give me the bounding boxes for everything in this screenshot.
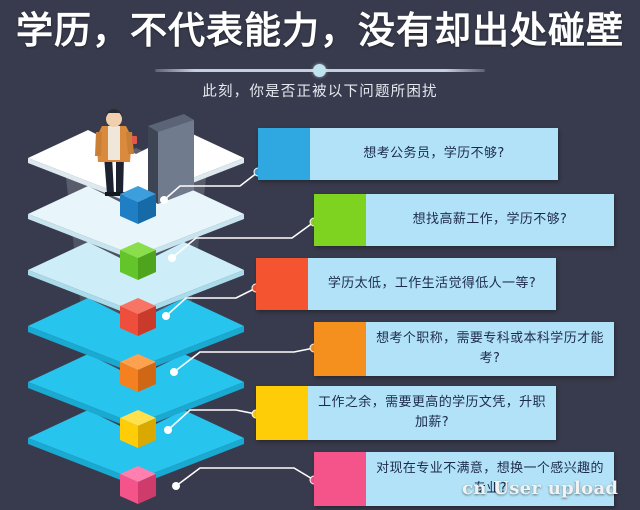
question-card[interactable]: 工作之余，需要更高的学历文凭，升职加薪?: [256, 386, 556, 440]
question-card[interactable]: 想找高薪工作，学历不够?: [314, 194, 614, 246]
card-color-chip: [314, 452, 366, 506]
podium-shape: [148, 114, 194, 204]
question-card[interactable]: 学历太低，工作生活觉得低人一等?: [256, 258, 556, 310]
card-text: 想考公务员，学历不够?: [363, 144, 504, 164]
isometric-layered-platform-illustration: [8, 108, 268, 508]
card-text: 想考个职称，需要专科或本科学历才能考?: [376, 329, 604, 369]
cube-blue: [120, 186, 156, 224]
card-body: 想找高薪工作，学历不够?: [366, 194, 614, 246]
cube-pink: [120, 466, 156, 504]
page-subtitle: 此刻，你是否正被以下问题所困扰: [0, 80, 640, 101]
card-color-chip: [258, 128, 310, 180]
card-color-chip: [256, 386, 308, 440]
question-card[interactable]: 想考个职称，需要专科或本科学历才能考?: [314, 322, 614, 376]
card-text: 想找高薪工作，学历不够?: [413, 210, 568, 230]
card-color-chip: [256, 258, 308, 310]
card-body: 想考公务员，学历不够?: [310, 128, 558, 180]
card-color-chip: [314, 194, 366, 246]
card-body: 工作之余，需要更高的学历文凭，升职加薪?: [308, 386, 556, 440]
page-title: 学历，不代表能力，没有却出处碰壁: [0, 8, 640, 54]
question-card[interactable]: 想考公务员，学历不够?: [258, 128, 558, 180]
card-text: 学历太低，工作生活觉得低人一等?: [328, 274, 536, 294]
cube-green: [120, 242, 156, 280]
cube-red: [120, 298, 156, 336]
header: 学历，不代表能力，没有却出处碰壁 此刻，你是否正被以下问题所困扰: [0, 0, 640, 104]
card-text: 工作之余，需要更高的学历文凭，升职加薪?: [318, 393, 546, 433]
card-color-chip: [314, 322, 366, 376]
card-body: 学历太低，工作生活觉得低人一等?: [308, 258, 556, 310]
watermark: cn User upload: [462, 478, 618, 499]
divider-dot-icon: [313, 64, 326, 77]
cube-yellow: [120, 410, 156, 448]
cube-orange: [120, 354, 156, 392]
card-body: 想考个职称，需要专科或本科学历才能考?: [366, 322, 614, 376]
infographic-root: 学历，不代表能力，没有却出处碰壁 此刻，你是否正被以下问题所困扰: [0, 0, 640, 510]
